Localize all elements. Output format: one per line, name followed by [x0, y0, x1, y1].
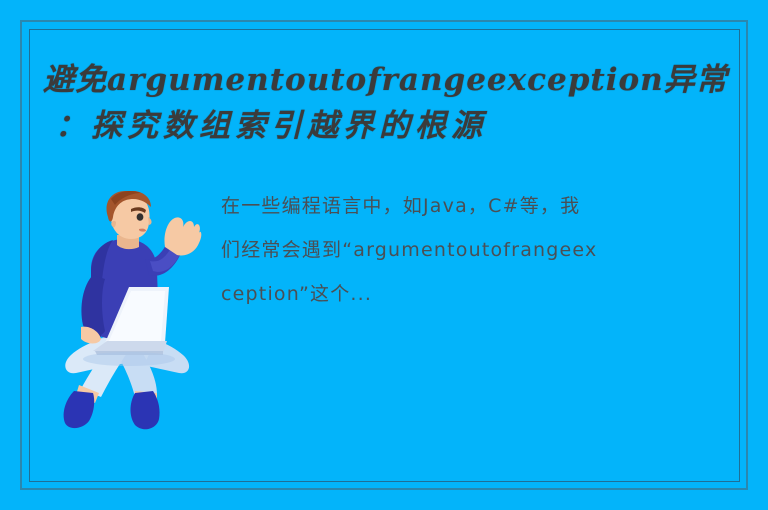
page-title-line-2: ：探究数组索引越界的根源	[43, 103, 733, 149]
excerpt-line-2: 们经常会遇到“argumentoutofrangeex	[221, 228, 741, 272]
person-sitting-with-laptop-illustration	[53, 191, 203, 431]
excerpt-line-3: ception”这个...	[221, 272, 741, 316]
article-excerpt: 在一些编程语言中，如Java，C#等，我 们经常会遇到“argumentouto…	[221, 184, 741, 316]
excerpt-line-1: 在一些编程语言中，如Java，C#等，我	[221, 184, 741, 228]
article-card: 避免argumentoutofrangeexception异常 ：探究数组索引越…	[29, 29, 740, 482]
page-title-line-1: 避免argumentoutofrangeexception异常	[43, 57, 733, 103]
page-title: 避免argumentoutofrangeexception异常 ：探究数组索引越…	[43, 57, 733, 149]
